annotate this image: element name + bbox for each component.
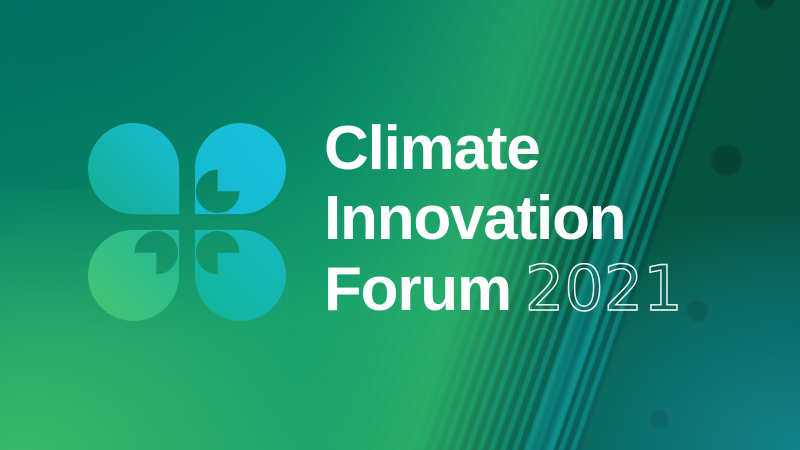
title-block: Climate Innovation Forum 2021 — [324, 114, 754, 325]
title-line-forum-year: Forum 2021 — [324, 254, 754, 325]
brand-logo — [88, 123, 286, 321]
title-line-climate: Climate — [324, 114, 754, 184]
banner-content: Climate Innovation Forum 2021 — [0, 0, 800, 450]
title-line-innovation: Innovation — [324, 184, 754, 254]
title-line-forum: Forum — [324, 255, 511, 325]
promo-banner: Climate Innovation Forum 2021 — [0, 0, 800, 450]
petal-bottom-left-shape — [88, 230, 179, 321]
petal-top-right-shape — [195, 123, 286, 214]
petal-bottom-right-shape — [195, 230, 286, 321]
title-year-text: 2021 — [525, 254, 683, 324]
title-year: 2021 — [525, 254, 683, 324]
